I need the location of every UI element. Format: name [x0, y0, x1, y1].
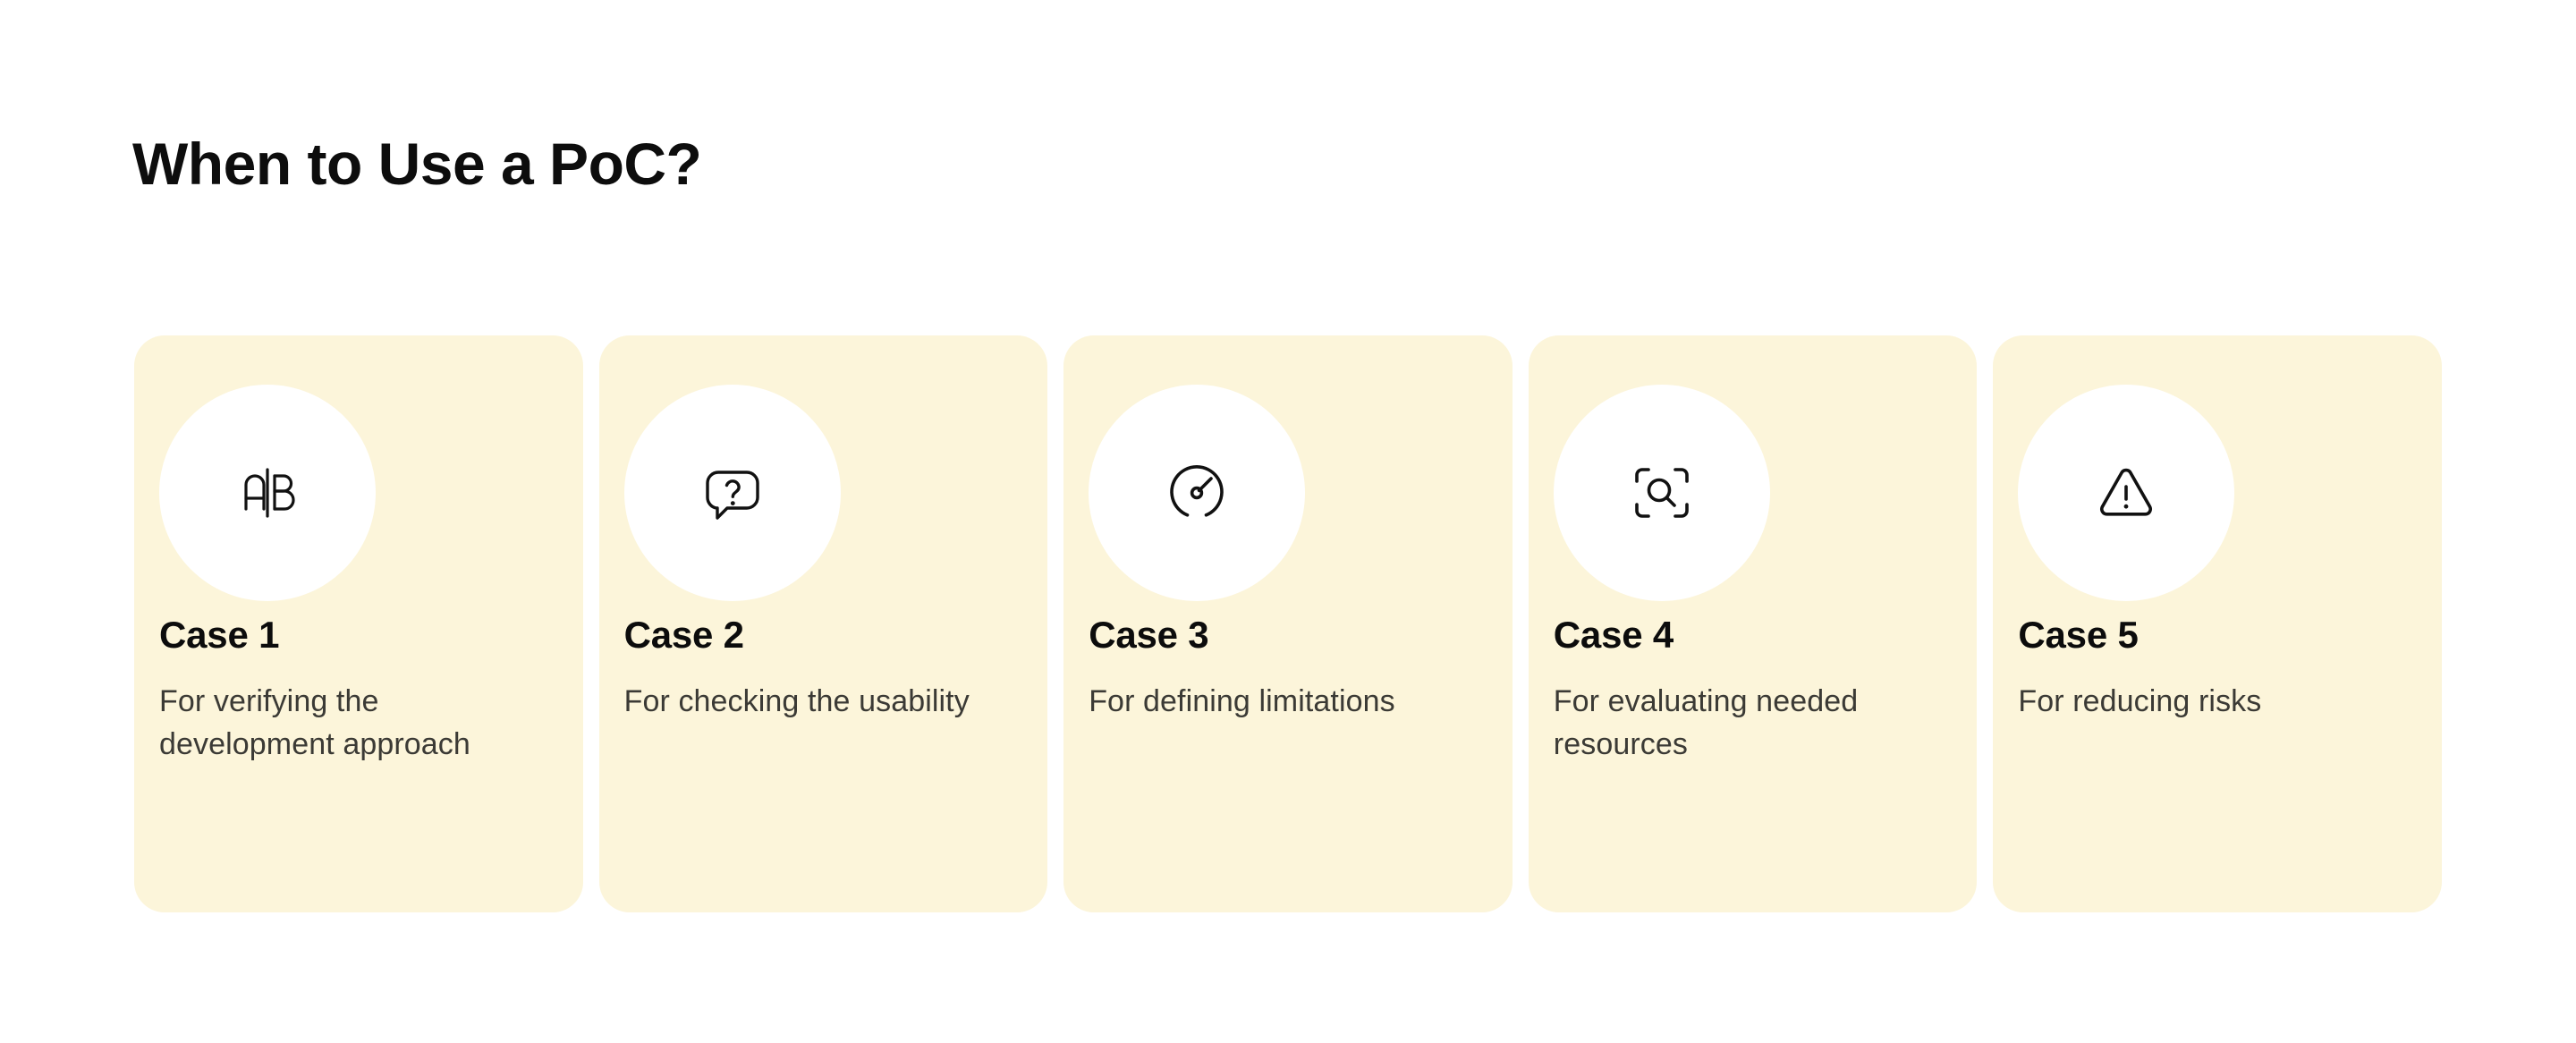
- icon-circle-5: [2018, 385, 2234, 601]
- page-title: When to Use a PoC?: [132, 129, 701, 199]
- case-card-description: For evaluating needed resources: [1554, 680, 1951, 766]
- cases-card-row: Case 1 For verifying the development app…: [134, 335, 2442, 912]
- case-card-description: For defining limitations: [1089, 680, 1486, 723]
- icon-circle-2: [624, 385, 841, 601]
- case-card-2[interactable]: Case 2 For checking the usability: [599, 335, 1048, 912]
- icon-circle-3: [1089, 385, 1305, 601]
- case-card-description: For reducing risks: [2018, 680, 2415, 723]
- case-card-description: For checking the usability: [624, 680, 1021, 723]
- case-card-title: Case 1: [159, 613, 279, 657]
- slide-canvas: When to Use a PoC?: [0, 0, 2576, 1043]
- question-speech-bubble-icon: [695, 455, 770, 530]
- case-card-3[interactable]: Case 3 For defining limitations: [1063, 335, 1513, 912]
- case-card-title: Case 5: [2018, 613, 2138, 657]
- case-card-4[interactable]: Case 4 For evaluating needed resources: [1529, 335, 1978, 912]
- case-card-title: Case 2: [624, 613, 744, 657]
- scan-search-icon: [1624, 455, 1699, 530]
- case-card-5[interactable]: Case 5 For reducing risks: [1993, 335, 2442, 912]
- icon-circle-1: [159, 385, 376, 601]
- icon-circle-4: [1554, 385, 1770, 601]
- case-card-1[interactable]: Case 1 For verifying the development app…: [134, 335, 583, 912]
- case-card-title: Case 4: [1554, 613, 1674, 657]
- warning-triangle-icon: [2089, 455, 2164, 530]
- case-card-description: For verifying the development approach: [159, 680, 556, 766]
- case-card-title: Case 3: [1089, 613, 1208, 657]
- ab-test-icon: [230, 455, 305, 530]
- gauge-icon: [1159, 455, 1234, 530]
